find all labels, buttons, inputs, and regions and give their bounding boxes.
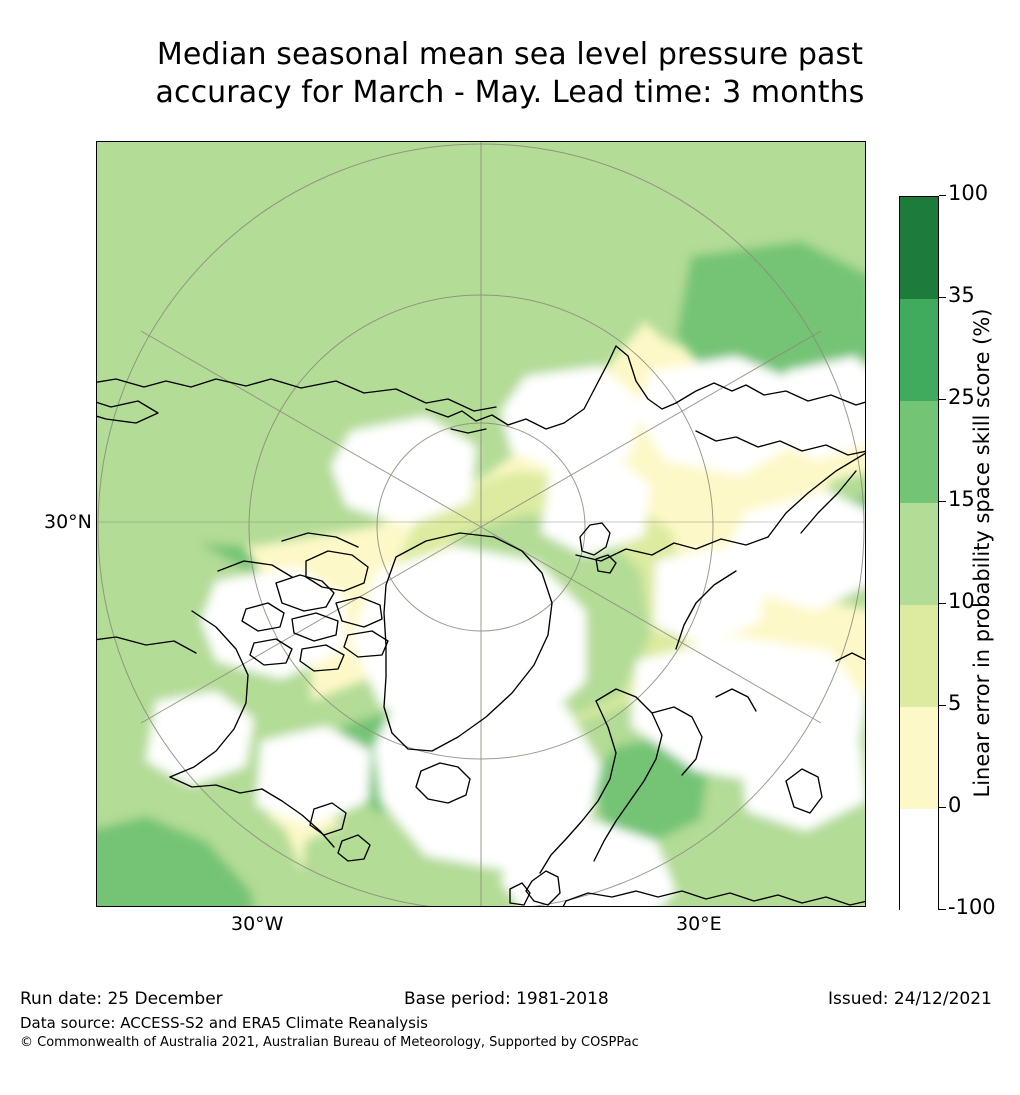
colorbar-band-15-to-25	[900, 401, 938, 503]
tick-mark	[939, 501, 946, 502]
axis-label-longitude-30e: 30°E	[676, 913, 722, 935]
tick-mark	[939, 399, 946, 400]
footer-base-period: Base period: 1981-2018	[404, 989, 609, 1009]
tick-label: 0	[948, 795, 961, 816]
map-panel	[96, 141, 866, 907]
colorbar-band-10-to-15	[900, 503, 938, 605]
colorbar-band--100-to-0	[900, 809, 938, 911]
title-line-1: Median seasonal mean sea level pressure …	[0, 36, 1020, 74]
tick-mark	[939, 909, 946, 910]
footer-copyright: © Commonwealth of Australia 2021, Austra…	[20, 1035, 639, 1050]
colorbar-band-0-to-5	[900, 707, 938, 809]
tick-mark	[939, 603, 946, 604]
footer-data-source: Data source: ACCESS-S2 and ERA5 Climate …	[20, 1014, 428, 1032]
colorbar	[899, 196, 939, 910]
tick-mark	[939, 297, 946, 298]
colorbar-band-25-to-35	[900, 299, 938, 401]
axis-label-longitude-30w: 30°W	[231, 913, 283, 935]
axis-label-latitude-30n: 30°N	[44, 511, 92, 533]
colorbar-axis-label: Linear error in probability space skill …	[962, 196, 1002, 910]
colorbar-band-35-to-100	[900, 197, 938, 299]
tick-mark	[939, 705, 946, 706]
footer-run-date: Run date: 25 December	[20, 989, 223, 1009]
page-title: Median seasonal mean sea level pressure …	[0, 36, 1020, 113]
polar-stereographic-map	[96, 141, 866, 907]
tick-mark	[939, 807, 946, 808]
map-canvas	[96, 141, 866, 907]
tick-label: 5	[948, 693, 961, 714]
footer-issued-date: Issued: 24/12/2021	[828, 989, 992, 1009]
tick-mark	[939, 195, 946, 196]
title-line-2: accuracy for March - May. Lead time: 3 m…	[0, 74, 1020, 112]
colorbar-band-5-to-10	[900, 605, 938, 707]
